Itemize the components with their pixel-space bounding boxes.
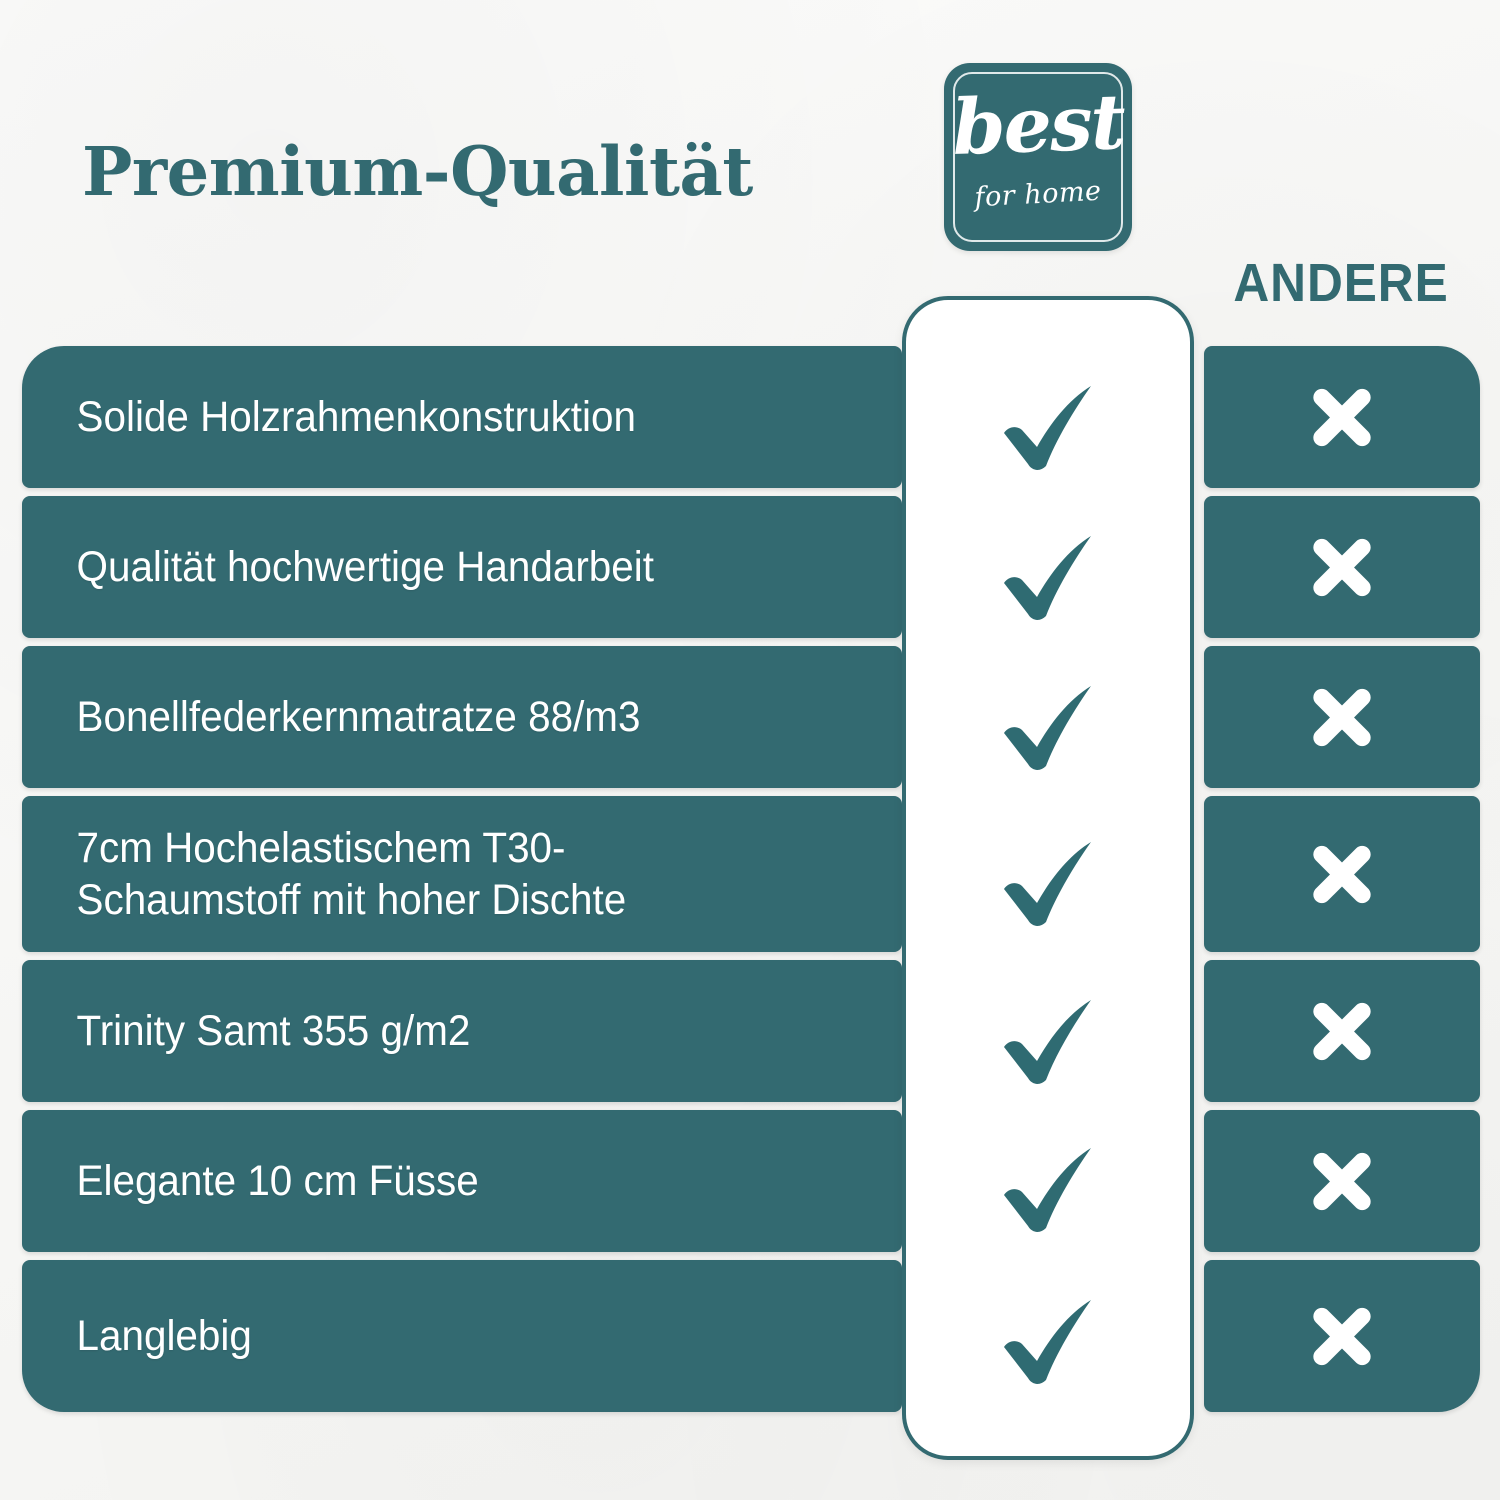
table-row: Elegante 10 cm Füsse bbox=[22, 1110, 1480, 1252]
feature-label-line2: Schaumstoff mit hoher Dischte bbox=[77, 876, 627, 924]
table-row: 7cm Hochelastischem T30- Schaumstoff mit… bbox=[22, 796, 1480, 952]
table-row: Langlebig bbox=[22, 1260, 1480, 1412]
competitor-cell bbox=[1204, 1110, 1480, 1252]
feature-cell: 7cm Hochelastischem T30- Schaumstoff mit… bbox=[22, 796, 902, 952]
feature-cell: Trinity Samt 355 g/m2 bbox=[22, 960, 902, 1102]
competitor-cell bbox=[1204, 496, 1480, 638]
cross-icon bbox=[1305, 680, 1379, 754]
competitor-cell bbox=[1204, 646, 1480, 788]
feature-label: 7cm Hochelastischem T30- Schaumstoff mit… bbox=[22, 822, 645, 927]
cross-icon bbox=[1305, 994, 1379, 1068]
feature-cell: Elegante 10 cm Füsse bbox=[22, 1110, 902, 1252]
feature-label-line1: Langlebig bbox=[77, 1312, 252, 1360]
feature-label-line1: Elegante 10 cm Füsse bbox=[77, 1157, 479, 1205]
feature-cell: Solide Holzrahmenkonstruktion bbox=[22, 346, 902, 488]
competitor-cell bbox=[1204, 960, 1480, 1102]
table-row: Bonellfederkernmatratze 88/m3 bbox=[22, 646, 1480, 788]
feature-label: Solide Holzrahmenkonstruktion bbox=[22, 391, 655, 443]
feature-label-line1: Trinity Samt 355 g/m2 bbox=[77, 1007, 471, 1055]
cross-icon bbox=[1305, 530, 1379, 604]
feature-label: Bonellfederkernmatratze 88/m3 bbox=[22, 691, 659, 743]
feature-label: Qualität hochwertige Handarbeit bbox=[22, 541, 673, 593]
cross-icon bbox=[1305, 837, 1379, 911]
table-row: Solide Holzrahmenkonstruktion bbox=[22, 346, 1480, 488]
competitor-cell bbox=[1204, 1260, 1480, 1412]
comparison-table: Solide Holzrahmenkonstruktion Qualität h… bbox=[0, 0, 1500, 1500]
feature-cell: Langlebig bbox=[22, 1260, 902, 1412]
feature-label-line1: Qualität hochwertige Handarbeit bbox=[77, 543, 654, 591]
feature-cell: Qualität hochwertige Handarbeit bbox=[22, 496, 902, 638]
feature-label-line1: Bonellfederkernmatratze 88/m3 bbox=[77, 693, 641, 741]
feature-label: Elegante 10 cm Füsse bbox=[22, 1155, 497, 1207]
cross-icon bbox=[1305, 1299, 1379, 1373]
table-row: Trinity Samt 355 g/m2 bbox=[22, 960, 1480, 1102]
comparison-infographic: Premium-Qualität best for home ANDERE So… bbox=[0, 0, 1500, 1500]
feature-label: Langlebig bbox=[22, 1310, 271, 1362]
competitor-cell bbox=[1204, 796, 1480, 952]
cross-icon bbox=[1305, 1144, 1379, 1218]
feature-label-line1: Solide Holzrahmenkonstruktion bbox=[77, 393, 636, 441]
competitor-cell bbox=[1204, 346, 1480, 488]
cross-icon bbox=[1305, 380, 1379, 454]
feature-cell: Bonellfederkernmatratze 88/m3 bbox=[22, 646, 902, 788]
table-row: Qualität hochwertige Handarbeit bbox=[22, 496, 1480, 638]
highlight-panel bbox=[902, 296, 1194, 1460]
feature-label-line1: 7cm Hochelastischem T30- bbox=[77, 824, 566, 872]
feature-label: Trinity Samt 355 g/m2 bbox=[22, 1005, 489, 1057]
